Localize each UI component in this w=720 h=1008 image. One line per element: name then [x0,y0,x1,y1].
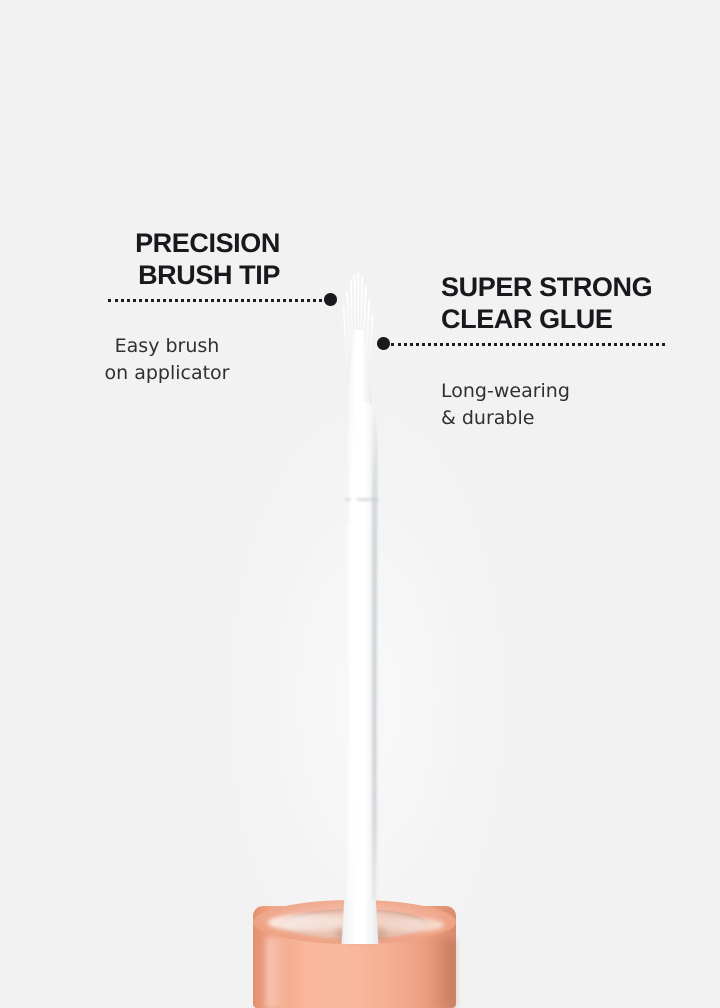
wand-through-mouth [338,900,382,944]
leader-endpoint-dot-right [377,337,390,350]
leader-endpoint-dot-left [324,293,337,306]
product-infographic: PRECISION BRUSH TIP Easy brush on applic… [0,0,720,1008]
callout-super-strong-clear-glue: SUPER STRONG CLEAR GLUE [441,272,691,336]
callout-left-subtitle: Easy brush on applicator [60,333,280,387]
leader-line-left [108,297,336,303]
callout-left-title: PRECISION BRUSH TIP [60,228,280,292]
callout-right-title: SUPER STRONG CLEAR GLUE [441,272,691,336]
wand-edge-shading [372,412,377,930]
leader-dotted-rule-right [391,343,665,346]
wand-specular-highlight [350,410,357,930]
leader-dotted-rule-left [108,299,322,302]
cap-rim-highlight-right [382,918,444,932]
leader-line-right [377,341,667,347]
cap-body-shadow [430,938,456,1008]
callout-right-subtitle: Long-wearing & durable [441,378,691,432]
callout-left-subtitle-wrap: Easy brush on applicator [60,318,280,387]
cap-body-highlight [266,938,288,1008]
cap-rim-highlight-left [268,914,346,931]
product-photo [0,0,720,1008]
callout-right-subtitle-wrap: Long-wearing & durable [441,363,691,432]
callout-precision-brush-tip: PRECISION BRUSH TIP [60,228,280,292]
